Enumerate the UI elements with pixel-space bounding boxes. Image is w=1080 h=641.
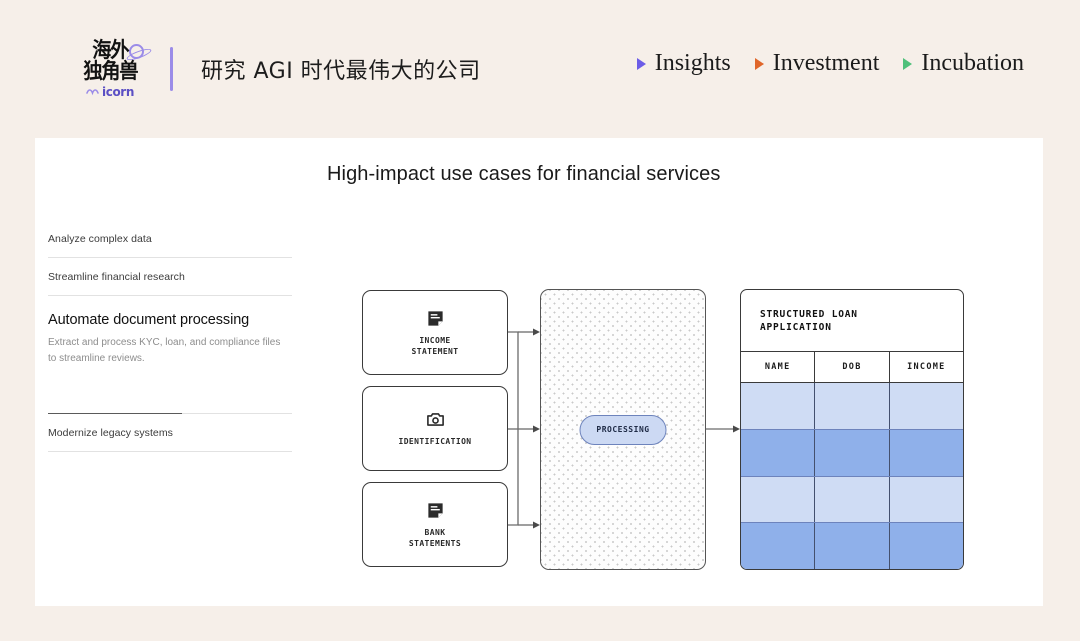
- process-diagram: INCOME STATEMENT IDENTIFICATION BA: [35, 138, 1043, 606]
- table-cell: [815, 477, 889, 523]
- arrowhead-top: [533, 329, 540, 336]
- logo-wordmark: icorn: [102, 85, 134, 99]
- table-cell: [890, 383, 963, 429]
- input-card-label: BANK STATEMENTS: [409, 527, 461, 549]
- header-tagline: 研究 AGI 时代最伟大的公司: [201, 53, 481, 85]
- table-column-header-income: INCOME: [890, 352, 963, 382]
- logo-cn-line1: 海外: [83, 40, 137, 61]
- document-icon: [426, 501, 445, 520]
- processing-status-badge[interactable]: PROCESSING: [580, 415, 667, 445]
- arrowhead-mid: [533, 426, 540, 433]
- table-column-header-name: NAME: [741, 352, 815, 382]
- table-row: [741, 477, 963, 524]
- logo-latin-block: icorn: [86, 85, 134, 99]
- table-header-row: NAME DOB INCOME: [741, 352, 963, 383]
- table-cell: [815, 523, 889, 569]
- brand-divider: [170, 47, 173, 91]
- logo-chinese-text: 海外 独角兽: [83, 40, 137, 82]
- nav-item-label: Investment: [773, 50, 880, 77]
- table-body: [741, 383, 963, 569]
- table-cell: [741, 430, 815, 476]
- table-cell: [815, 430, 889, 476]
- nav-item-label: Insights: [655, 50, 731, 77]
- play-triangle-icon: [755, 58, 764, 70]
- table-title-line2: APPLICATION: [760, 322, 832, 333]
- slide-content-card: High-impact use cases for financial serv…: [35, 138, 1043, 606]
- table-cell: [890, 430, 963, 476]
- camera-icon: [426, 410, 445, 429]
- table-row: [741, 523, 963, 569]
- table-cell: [741, 383, 815, 429]
- input-card-label-line2: STATEMENTS: [409, 538, 461, 549]
- nav-item-label: Incubation: [921, 50, 1024, 77]
- table-cell: [890, 477, 963, 523]
- table-title-line1: STRUCTURED LOAN: [760, 309, 858, 320]
- swoosh-icon: [86, 88, 101, 96]
- input-card-label: INCOME STATEMENT: [412, 335, 459, 357]
- play-triangle-icon: [637, 58, 646, 70]
- table-cell: [741, 477, 815, 523]
- site-header: 海外 独角兽 icorn 研究 AGI 时代最伟大的公司 Insights In…: [0, 0, 1080, 138]
- input-card-label-line1: IDENTIFICATION: [398, 436, 471, 447]
- table-column-header-dob: DOB: [815, 352, 889, 382]
- nav-item-insights[interactable]: Insights: [637, 50, 731, 77]
- connector-card2: [508, 429, 518, 525]
- input-card-bank-statements[interactable]: BANK STATEMENTS: [362, 482, 508, 567]
- brand-block[interactable]: 海外 独角兽 icorn 研究 AGI 时代最伟大的公司: [74, 38, 481, 100]
- arrowhead-bottom: [533, 522, 540, 529]
- table-title-text: STRUCTURED LOAN APPLICATION: [760, 308, 858, 334]
- table-cell: [741, 523, 815, 569]
- table-title: STRUCTURED LOAN APPLICATION: [741, 290, 963, 352]
- input-card-identification[interactable]: IDENTIFICATION: [362, 386, 508, 471]
- table-row: [741, 383, 963, 430]
- table-cell: [815, 383, 889, 429]
- structured-output-table: STRUCTURED LOAN APPLICATION NAME DOB INC…: [740, 289, 964, 570]
- nav-item-incubation[interactable]: Incubation: [903, 50, 1024, 77]
- input-card-label-line2: STATEMENT: [412, 346, 459, 357]
- table-row: [741, 430, 963, 477]
- input-card-income-statement[interactable]: INCOME STATEMENT: [362, 290, 508, 375]
- logo-mark[interactable]: 海外 独角兽 icorn: [74, 38, 146, 100]
- header-nav: Insights Investment Incubation: [637, 50, 1024, 77]
- table-cell: [890, 523, 963, 569]
- document-icon: [426, 309, 445, 328]
- nav-item-investment[interactable]: Investment: [755, 50, 880, 77]
- processing-box: PROCESSING: [540, 289, 706, 570]
- logo-cn-line2: 独角兽: [83, 61, 137, 82]
- processing-label: PROCESSING: [596, 425, 649, 434]
- arrowhead-table: [733, 426, 740, 433]
- input-card-label-line1: INCOME: [412, 335, 459, 346]
- connector-card0: [508, 332, 518, 429]
- input-card-label: IDENTIFICATION: [398, 436, 471, 447]
- input-card-label-line1: BANK: [409, 527, 461, 538]
- play-triangle-icon: [903, 58, 912, 70]
